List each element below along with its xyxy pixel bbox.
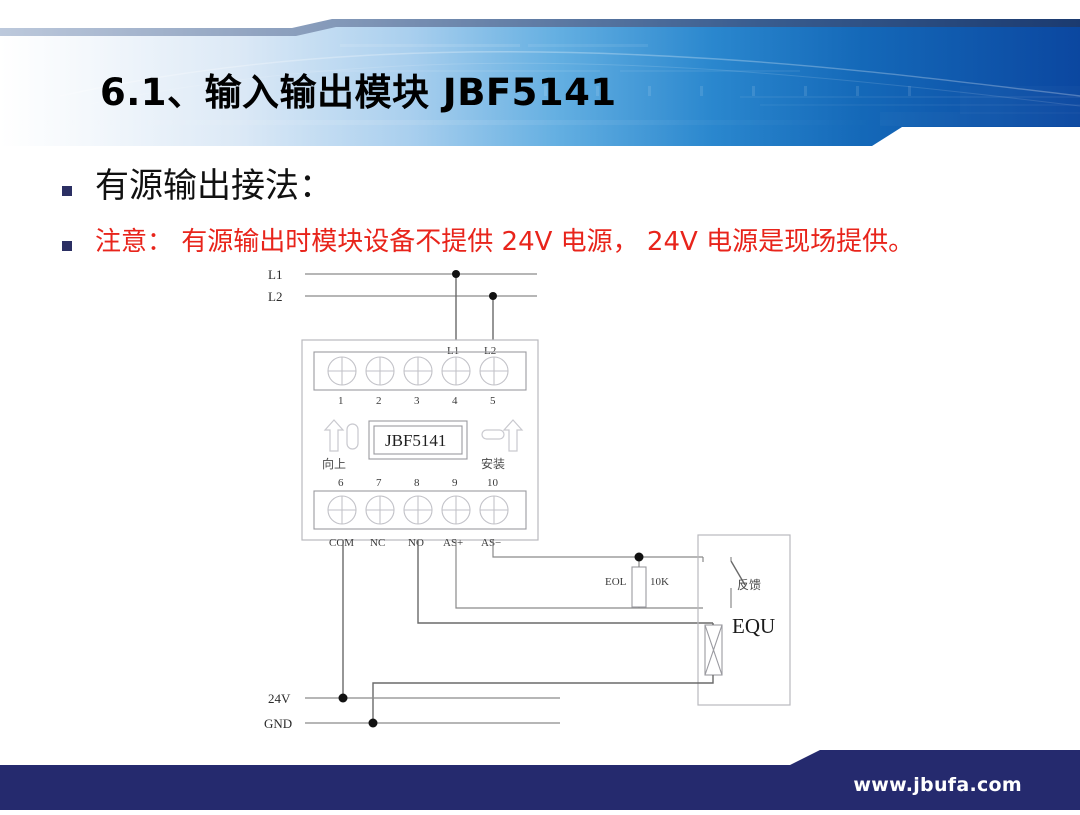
screw-terminal-7 [366,496,394,524]
orientation-arrow-icon [325,420,358,451]
rail-label-l2: L2 [268,289,282,304]
rail-label-l1: L1 [268,267,282,282]
terminal-signal-no: NO [408,537,424,549]
terminal-number-1: 1 [338,395,344,407]
mounting-arrow-icon [482,420,522,451]
wiring-diagram-svg: L1 L2 L1 L2 1 2 3 [0,258,1080,748]
screw-terminal-6 [328,496,356,524]
terminal-number-6: 6 [338,477,344,489]
screw-terminal-9 [442,496,470,524]
terminal-number-3: 3 [414,395,420,407]
eol-resistor-body [632,567,646,607]
junction-dot-l1 [452,270,460,278]
screw-terminal-2 [366,357,394,385]
terminal-signal-com: COM [329,537,354,549]
screw-terminal-8 [404,496,432,524]
bullet-square-icon [62,241,72,251]
terminal-signal-l2: L2 [484,345,496,357]
feedback-label: 反馈 [737,578,761,592]
screw-terminal-10 [480,496,508,524]
terminal-number-2: 2 [376,395,382,407]
screw-terminal-3 [404,357,432,385]
terminal-signal-l1: L1 [447,345,459,357]
bullet-item-2: 注意： 有源输出时模块设备不提供 24V 电源， 24V 电源是现场提供。 [62,228,914,257]
equ-label: EQU [732,614,775,638]
eol-label: EOL [605,576,627,588]
terminal-number-5: 5 [490,395,496,407]
junction-dot-l2 [489,292,497,300]
footer-url: www.jbufa.com [853,774,1022,796]
terminal-number-8: 8 [414,477,420,489]
wire-load-to-gnd [373,675,713,723]
slide-footer: www.jbufa.com [0,750,1080,810]
bullet-item-1: 有源输出接法： [62,168,333,205]
terminal-signal-nc: NC [370,537,385,549]
terminal-number-9: 9 [452,477,458,489]
terminal-number-10: 10 [487,477,499,489]
bullet-2-label: 注意： 有源输出时模块设备不提供 24V 电源， 24V 电源是现场提供。 [95,228,914,257]
junction-dot-24v [339,694,348,703]
terminal-signal-asn: AS− [481,537,501,549]
wire-asminus [493,540,703,557]
screw-terminal-1 [328,357,356,385]
module-model-label: JBF5141 [385,431,446,450]
screw-terminal-4 [442,357,470,385]
terminal-number-7: 7 [376,477,382,489]
bullet-square-icon [62,186,72,196]
rail-label-24v: 24V [268,691,291,706]
slide-header-banner: 6.1、输入输出模块 JBF5141 [0,0,1080,150]
terminal-number-4: 4 [452,395,458,407]
junction-dot-gnd [369,719,378,728]
orientation-label: 向上 [322,456,346,471]
top-terminal-screws [328,357,508,385]
mounting-label: 安装 [481,456,505,471]
rail-label-gnd: GND [264,716,292,731]
terminal-signal-asp: AS+ [443,537,463,549]
eol-value-label: 10K [650,576,669,588]
page-title: 6.1、输入输出模块 JBF5141 [100,62,617,116]
bottom-terminal-screws [328,496,508,524]
wiring-diagram: L1 L2 L1 L2 1 2 3 [0,258,1080,748]
slide: 6.1、输入输出模块 JBF5141 有源输出接法： 注意： 有源输出时模块设备… [0,0,1080,810]
junction-dot-eol [635,553,644,562]
bullet-1-label: 有源输出接法： [95,168,333,205]
screw-terminal-5 [480,357,508,385]
